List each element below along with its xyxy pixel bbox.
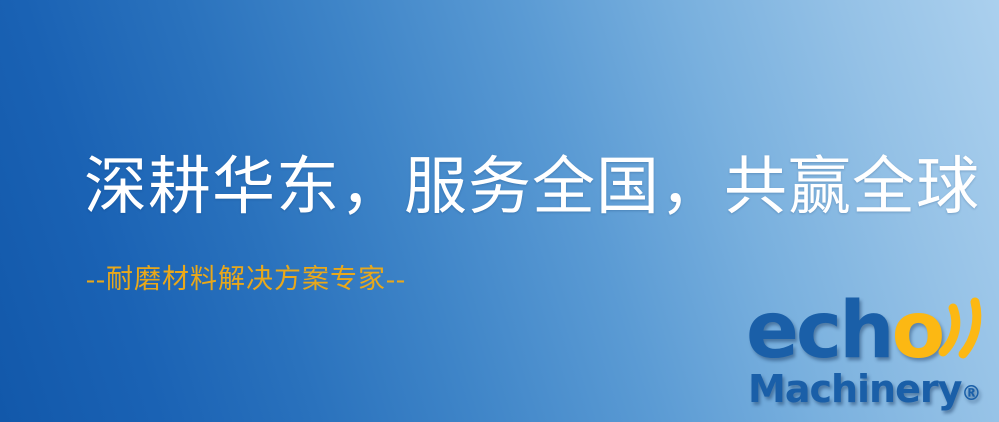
- logo-tagline: Machinery®: [748, 370, 981, 408]
- promotional-banner: 深耕华东，服务全国，共赢全球 --耐磨材料解决方案专家-- echo Machi…: [0, 0, 999, 422]
- logo-wordmark: echo: [744, 296, 994, 376]
- company-logo[interactable]: echo Machinery®: [744, 296, 994, 420]
- logo-tagline-text: Machinery: [748, 367, 961, 411]
- banner-headline: 深耕华东，服务全国，共赢全球: [84, 152, 980, 223]
- logo-echo-prefix: ech: [746, 286, 892, 376]
- logo-echo-text: echo: [746, 292, 942, 370]
- banner-subtitle: --耐磨材料解决方案专家--: [86, 262, 406, 297]
- registered-trademark-icon: ®: [961, 381, 981, 405]
- logo-echo-o: o: [892, 286, 943, 376]
